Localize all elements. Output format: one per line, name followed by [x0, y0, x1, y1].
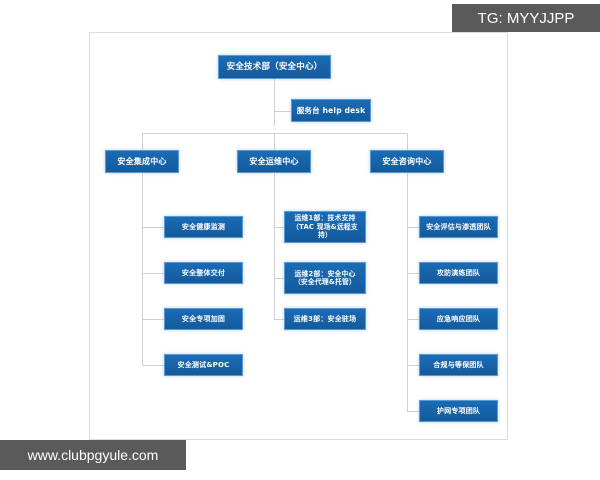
- node-center-security-operations[interactable]: 安全运维中心: [237, 150, 311, 173]
- node-center-security-integration[interactable]: 安全集成中心: [105, 150, 179, 173]
- node-health-monitoring[interactable]: 安全健康监测: [164, 216, 243, 238]
- node-network-protection-team[interactable]: 护网专项团队: [419, 400, 498, 422]
- node-testing-poc[interactable]: 安全测试&POC: [164, 354, 243, 376]
- org-chart-frame: 安全技术部（安全中心） 服务台 help desk 安全集成中心 安全运维中心 …: [89, 32, 508, 440]
- connector-root-down: [274, 79, 275, 126]
- connector-spine-col-2: [407, 172, 408, 411]
- connector-bus-to-center-0: [142, 133, 143, 150]
- node-assessment-pentest-team[interactable]: 安全评估与渗透团队: [419, 216, 498, 238]
- node-special-hardening[interactable]: 安全专项加固: [164, 308, 243, 330]
- node-overall-delivery[interactable]: 安全整体交付: [164, 262, 243, 284]
- node-ops-dept-1-tech-support[interactable]: 运维1部：技术支持 （TAC 现场&远程支持）: [284, 211, 366, 243]
- connector-spine-col-0: [142, 172, 143, 365]
- connector-spine-col-1: [274, 172, 275, 319]
- connector-bus-to-center-1: [274, 133, 275, 150]
- node-ops-dept-2-security-center[interactable]: 运维2部：安全中心 （安全代理&托管）: [284, 262, 366, 294]
- connector-stub-0-2: [142, 319, 164, 320]
- node-incident-response-team[interactable]: 应急响应团队: [419, 308, 498, 330]
- connector-stub-0-1: [142, 273, 164, 274]
- connector-stub-0-3: [142, 365, 164, 366]
- node-help-desk[interactable]: 服务台 help desk: [291, 99, 371, 122]
- node-compliance-team[interactable]: 合规与等保团队: [419, 354, 498, 376]
- node-center-security-consulting[interactable]: 安全咨询中心: [370, 150, 444, 173]
- connector-root-to-helpdesk: [274, 111, 291, 112]
- tg-handle-badge: TG: MYYJJPP: [452, 4, 600, 32]
- site-watermark: www.clubpgyule.com: [0, 440, 186, 470]
- node-red-blue-drill-team[interactable]: 攻防演练团队: [419, 262, 498, 284]
- node-ops-dept-3-onsite[interactable]: 运维3部：安全驻场: [284, 308, 366, 330]
- connector-bus-to-center-2: [407, 133, 408, 150]
- connector-stub-0-0: [142, 227, 164, 228]
- node-root[interactable]: 安全技术部（安全中心）: [218, 55, 331, 79]
